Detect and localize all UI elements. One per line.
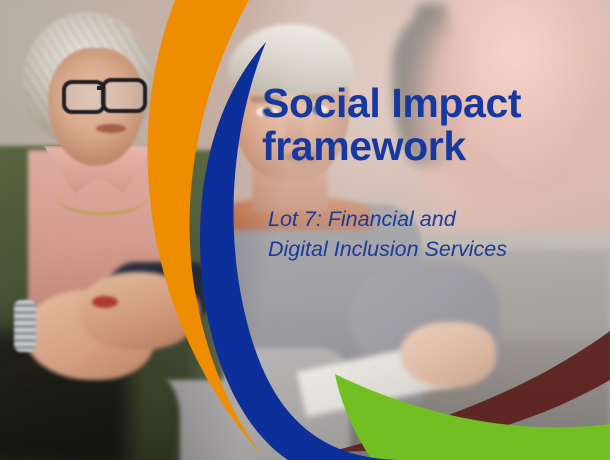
subtitle-line-1: Lot 7: Financial and [268, 205, 598, 235]
subtitle-line-2: Digital Inclusion Services [268, 235, 598, 265]
title-line-1: Social Impact [262, 82, 598, 125]
title-line-2: framework [262, 125, 598, 168]
slide-canvas: Social Impact framework Lot 7: Financial… [0, 0, 610, 460]
page-subtitle: Lot 7: Financial and Digital Inclusion S… [268, 205, 598, 264]
page-title: Social Impact framework [262, 82, 598, 169]
